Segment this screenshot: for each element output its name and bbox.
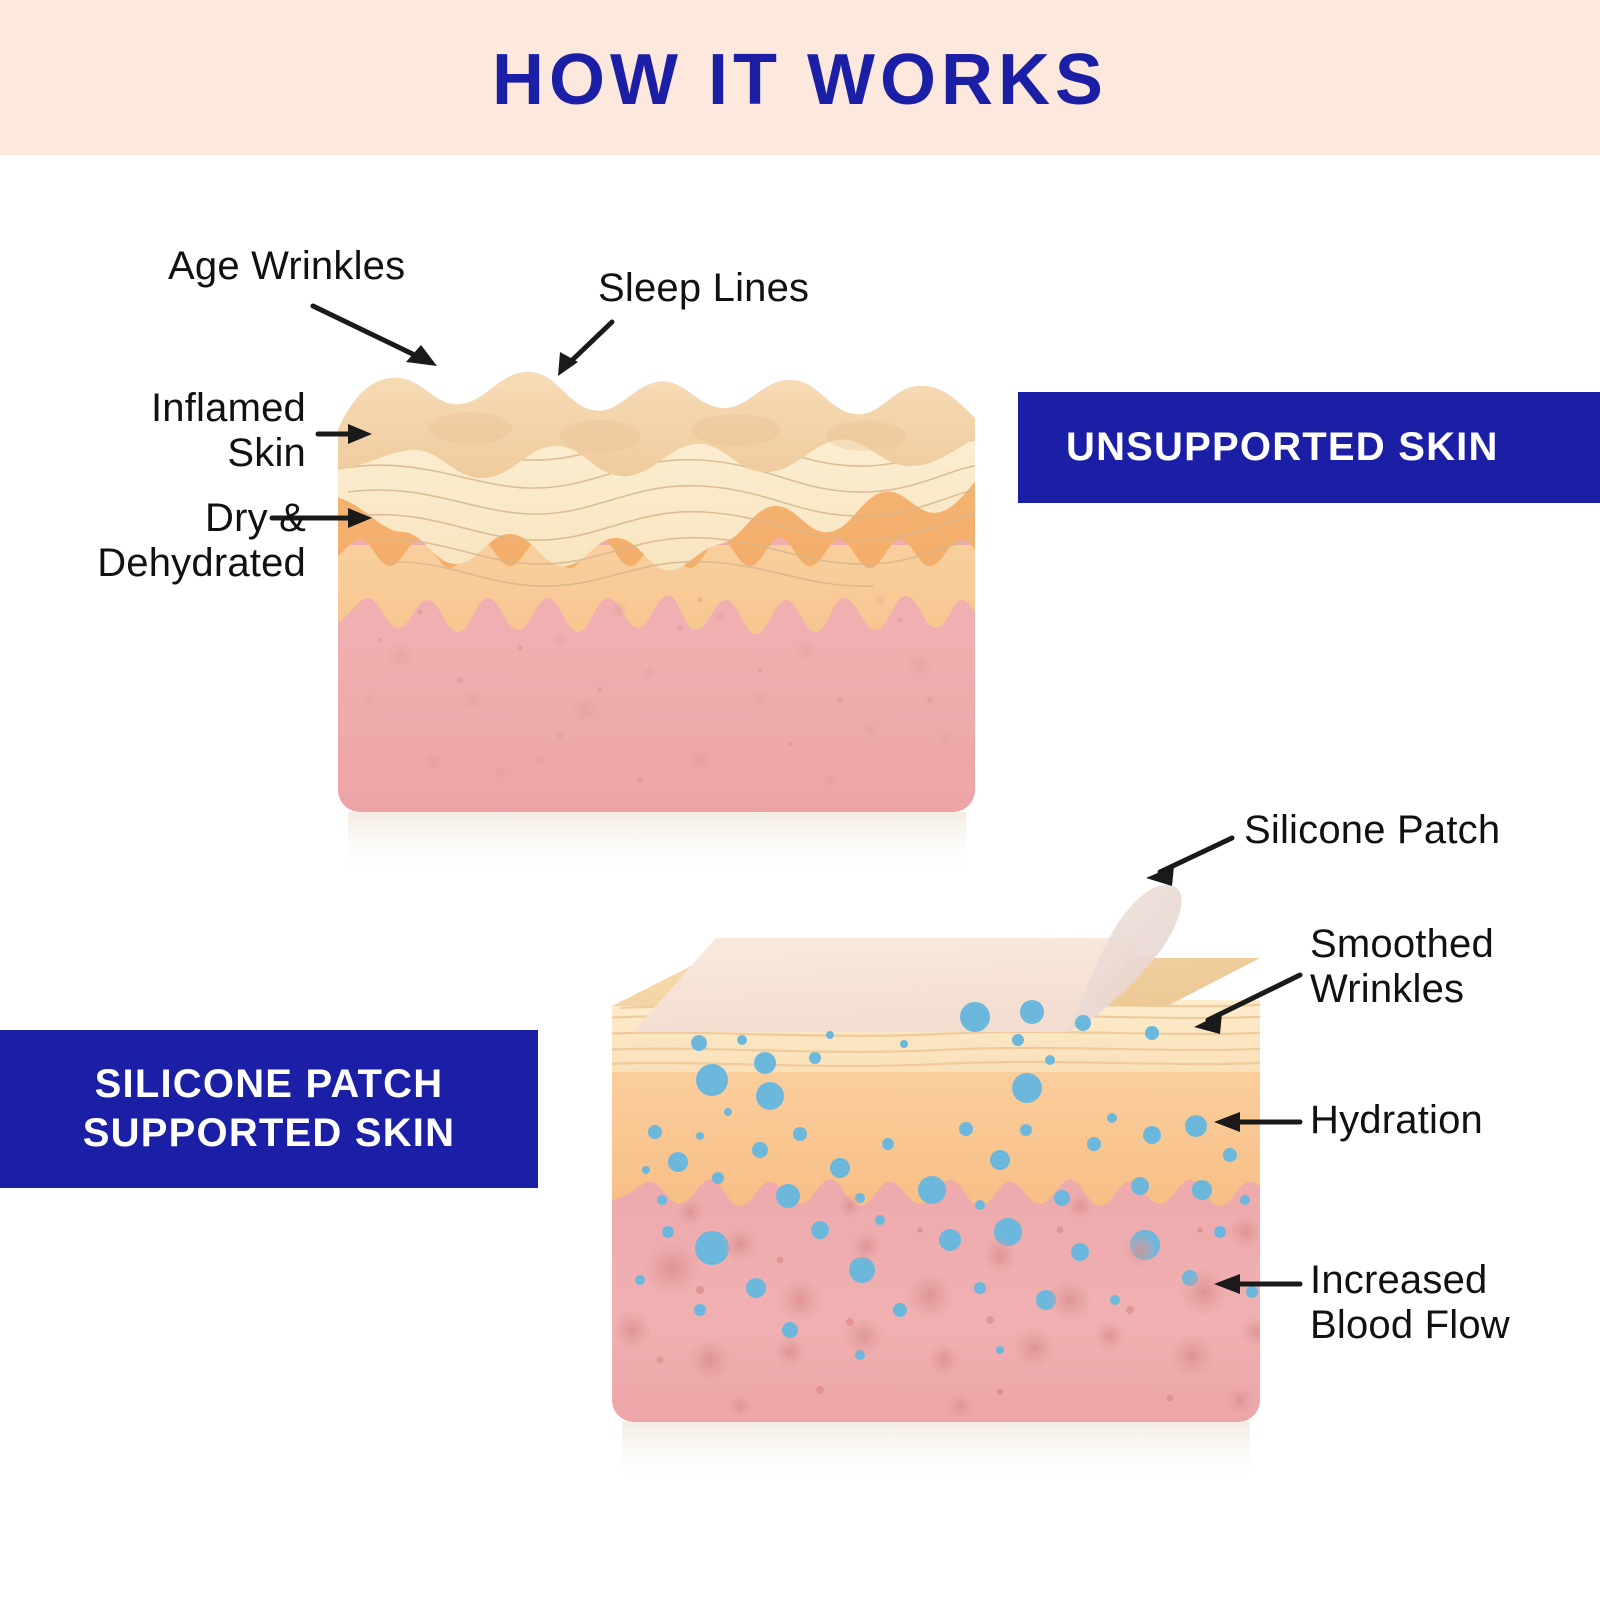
banner-supported-label-line2: SUPPORTED SKIN xyxy=(83,1109,455,1158)
label-hydration: Hydration xyxy=(1310,1098,1483,1143)
top-skin-block xyxy=(330,370,990,876)
label-sleep-lines: Sleep Lines xyxy=(598,266,809,311)
skin-diagram-artwork xyxy=(0,0,1600,1600)
label-inflamed-skin: Inflamed Skin xyxy=(118,386,306,476)
banner-unsupported-label: UNSUPPORTED SKIN xyxy=(1066,425,1499,470)
banner-supported-label-line1: SILICONE PATCH xyxy=(83,1060,455,1109)
infographic-page: HOW IT WORKS xyxy=(0,0,1600,1600)
banner-supported-skin: SILICONE PATCH SUPPORTED SKIN xyxy=(0,1030,538,1188)
silicone-patch-sheet xyxy=(633,938,1148,1032)
arrow-silicone-patch xyxy=(1160,838,1232,872)
label-increased-blood-flow: Increased Blood Flow xyxy=(1310,1258,1510,1348)
arrow-age-wrinkles xyxy=(313,306,425,360)
label-smoothed-wrinkles: Smoothed Wrinkles xyxy=(1310,922,1494,1012)
label-silicone-patch: Silicone Patch xyxy=(1244,808,1500,853)
label-age-wrinkles: Age Wrinkles xyxy=(168,244,405,289)
banner-unsupported-skin: UNSUPPORTED SKIN xyxy=(1018,392,1600,503)
label-dry-dehydrated: Dry & Dehydrated xyxy=(46,496,306,586)
silicone-patch xyxy=(633,885,1182,1032)
bottom-skin-block xyxy=(600,885,1280,1484)
